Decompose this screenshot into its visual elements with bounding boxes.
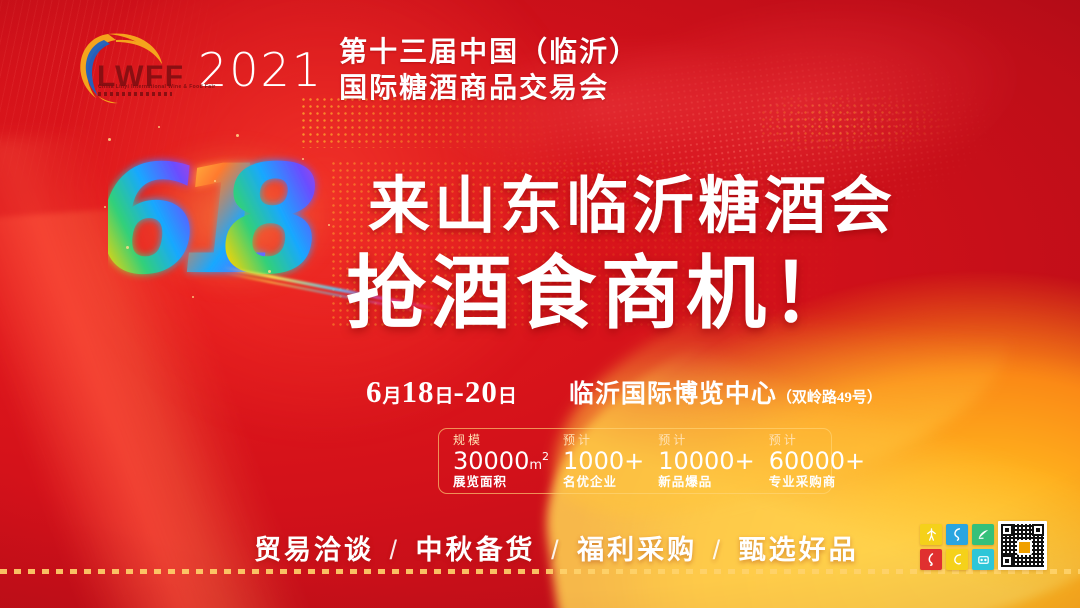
date-end: 20 [465, 374, 498, 410]
headline-line-2: 抢酒食商机！ [346, 254, 896, 334]
date-dash: - [454, 374, 465, 410]
stat-item: 预计 1000+ 名优企业 [549, 434, 644, 489]
lwff-logo-subtext: China Linyi International Wine & Food Fa… [98, 84, 216, 90]
stat-value: 30000m2 [453, 448, 549, 475]
stat-label: 预计 [658, 433, 754, 448]
dashed-divider [0, 569, 1080, 574]
event-title-line-1: 第十三届中国（临沂） [339, 34, 639, 70]
qr-code[interactable] [998, 521, 1047, 570]
qr-finder-top-right [1032, 524, 1044, 536]
stats-panel: 规模 30000m2 展览面积 预计 1000+ 名优企业 预计 10000+ … [438, 428, 832, 494]
stat-item: 规模 30000m2 展览面积 [439, 434, 549, 489]
app-icon-1[interactable] [920, 524, 942, 545]
stat-value: 1000+ [563, 448, 644, 475]
event-title: 第十三届中国（临沂） 国际糖酒商品交易会 [339, 34, 639, 105]
venue-name: 临沂国际博览中心 [569, 374, 777, 410]
event-year: 2021 [198, 47, 323, 93]
stat-value: 60000+ [769, 448, 865, 475]
qr-finder-bottom-left [1001, 555, 1013, 567]
tagline-separator: / [390, 535, 401, 565]
app-icon-6[interactable] [972, 549, 994, 570]
tagline-item-1: 贸易洽谈 [254, 535, 374, 565]
social-icon-grid [920, 524, 994, 570]
stat-item: 预计 60000+ 专业采购商 [755, 434, 865, 489]
tagline: 贸易洽谈 / 中秋备货 / 福利采购 / 甄选好品 [254, 528, 859, 567]
stat-caption: 展览面积 [453, 475, 549, 491]
tagline-item-4: 甄选好品 [739, 535, 859, 565]
stat-caption: 新品爆品 [658, 475, 754, 491]
stat-item: 预计 10000+ 新品爆品 [644, 434, 754, 489]
date-start: 18 [402, 374, 435, 410]
lwff-logo: LWFF China Linyi International Wine & Fo… [64, 24, 184, 116]
stat-value: 10000+ [658, 448, 754, 475]
qr-code-pattern [1001, 524, 1044, 567]
app-icon-3[interactable] [972, 524, 994, 545]
stat-label: 规模 [453, 433, 549, 448]
stat-caption: 专业采购商 [769, 475, 865, 491]
qr-finder-top-left [1001, 524, 1013, 536]
tagline-separator: / [551, 535, 562, 565]
date-month-unit: 月 [383, 381, 402, 408]
app-icon-2[interactable] [946, 524, 968, 545]
venue-address: （双岭路49号） [777, 386, 882, 407]
date-start-unit: 日 [435, 381, 454, 408]
tagline-item-3: 福利采购 [577, 535, 697, 565]
date-end-unit: 日 [498, 381, 517, 408]
event-date-venue: 6 月 18 日 - 20 日 临沂国际博览中心 （双岭路49号） [366, 374, 882, 410]
stat-label: 预计 [563, 433, 644, 448]
event-title-line-2: 国际糖酒商品交易会 [339, 70, 639, 106]
tagline-item-2: 中秋备货 [416, 535, 536, 565]
tagline-separator: / [713, 535, 724, 565]
app-icon-4[interactable] [920, 549, 942, 570]
stat-caption: 名优企业 [563, 475, 644, 491]
lwff-logo-bars [98, 92, 172, 96]
stat-label: 预计 [769, 433, 865, 448]
hero-headline: 来山东临沂糖酒会 抢酒食商机！ [368, 176, 896, 334]
promo-banner: LWFF China Linyi International Wine & Fo… [0, 0, 1080, 608]
date-month: 6 [366, 374, 383, 410]
app-icon-5[interactable] [946, 549, 968, 570]
headline-line-1: 来山东临沂糖酒会 [368, 176, 896, 238]
